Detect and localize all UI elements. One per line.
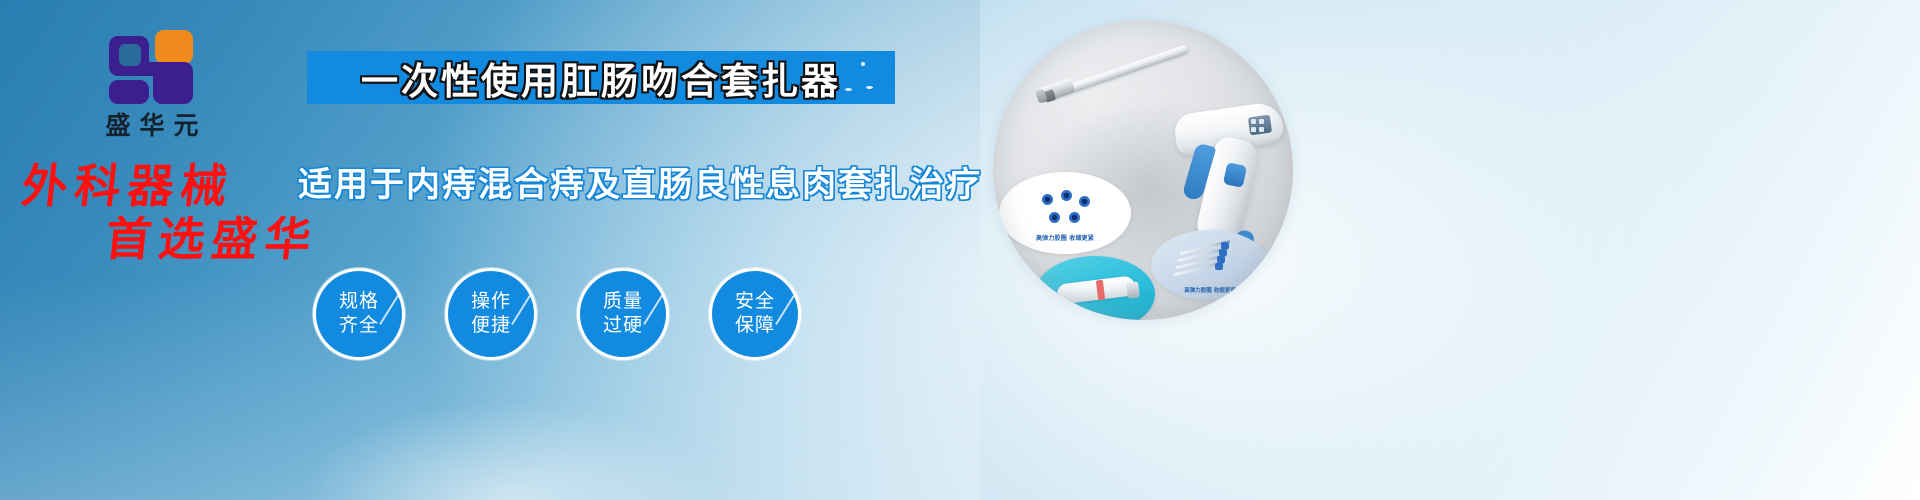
feature-badge-line2: 便捷 (471, 314, 511, 338)
slash-decoration-icon (511, 295, 531, 325)
rubber-band-icon (1042, 194, 1053, 205)
slogan-line-2: 首选盛华 (103, 203, 322, 269)
needle-head-icon (1215, 263, 1223, 270)
slash-decoration-icon (379, 295, 399, 325)
rubber-band-icon (1061, 190, 1072, 201)
logo-square-bottom-left (109, 80, 149, 104)
feature-badge-line1: 质量 (603, 290, 643, 314)
logo-notch (119, 44, 141, 66)
inset-card-needles: 高弹力胶圈 收缩更紧 (1151, 230, 1269, 300)
feature-badge-line1: 操作 (471, 290, 511, 314)
sparkle-icon (866, 86, 873, 89)
inset-card-rubber-bands: 高弹力胶圈 收缩更紧 (999, 172, 1131, 254)
device-button (1251, 127, 1256, 132)
logo-bridge (135, 62, 169, 76)
sparkle-icon (861, 62, 865, 66)
rubber-band-icon (1079, 196, 1090, 207)
logo-mark-icon (109, 28, 195, 104)
device-button (1251, 119, 1256, 124)
product-photo: 高弹力胶圈 收缩更紧 高弹力胶圈 收缩更紧 (993, 20, 1293, 320)
feature-badge-list: 规格 齐全 操作 便捷 质量 过硬 安全 保障 (313, 268, 801, 360)
product-title-bar: 一次性使用肛肠吻合套扎器 (307, 51, 895, 104)
needles-caption: 高弹力胶圈 收缩更紧 (1151, 286, 1269, 294)
slash-decoration-icon (643, 295, 663, 325)
needle-head-icon (1221, 242, 1229, 249)
brand-name: 盛华元 (62, 112, 242, 140)
needle-head-icon (1217, 256, 1225, 263)
needle-head-icon (1219, 249, 1227, 256)
brand-logo[interactable]: 盛华元 (62, 28, 242, 140)
logo-square-top-right (155, 30, 193, 64)
component-cap (1126, 281, 1140, 298)
sparkle-icon (845, 88, 852, 91)
device-button-panel (1248, 115, 1272, 136)
feature-badge-line1: 规格 (339, 290, 379, 314)
device-button (1259, 119, 1264, 124)
product-title: 一次性使用肛肠吻合套扎器 (361, 51, 841, 105)
device-button (1259, 127, 1264, 132)
feature-badge-specs[interactable]: 规格 齐全 (313, 268, 405, 360)
product-subtitle: 适用于内痔混合痔及直肠良性息肉套扎治疗 (298, 157, 982, 206)
feature-badge-operation[interactable]: 操作 便捷 (445, 268, 537, 360)
feature-badge-quality[interactable]: 质量 过硬 (577, 268, 669, 360)
feature-badge-line2: 齐全 (339, 314, 379, 338)
rubber-bands-caption: 高弹力胶圈 收缩更紧 (999, 233, 1131, 242)
feature-badge-safety[interactable]: 安全 保障 (709, 268, 801, 360)
feature-badge-line1: 安全 (735, 290, 775, 314)
rubber-band-icon (1049, 212, 1060, 223)
feature-badge-line2: 保障 (735, 314, 775, 338)
promo-banner: 盛华元 一次性使用肛肠吻合套扎器 外科器械 首选盛华 适用于内痔混合痔及直肠良性… (0, 0, 1920, 500)
feature-badge-line2: 过硬 (603, 314, 643, 338)
slash-decoration-icon (775, 295, 795, 325)
background-glow (300, 400, 720, 500)
rubber-band-icon (1069, 212, 1080, 223)
